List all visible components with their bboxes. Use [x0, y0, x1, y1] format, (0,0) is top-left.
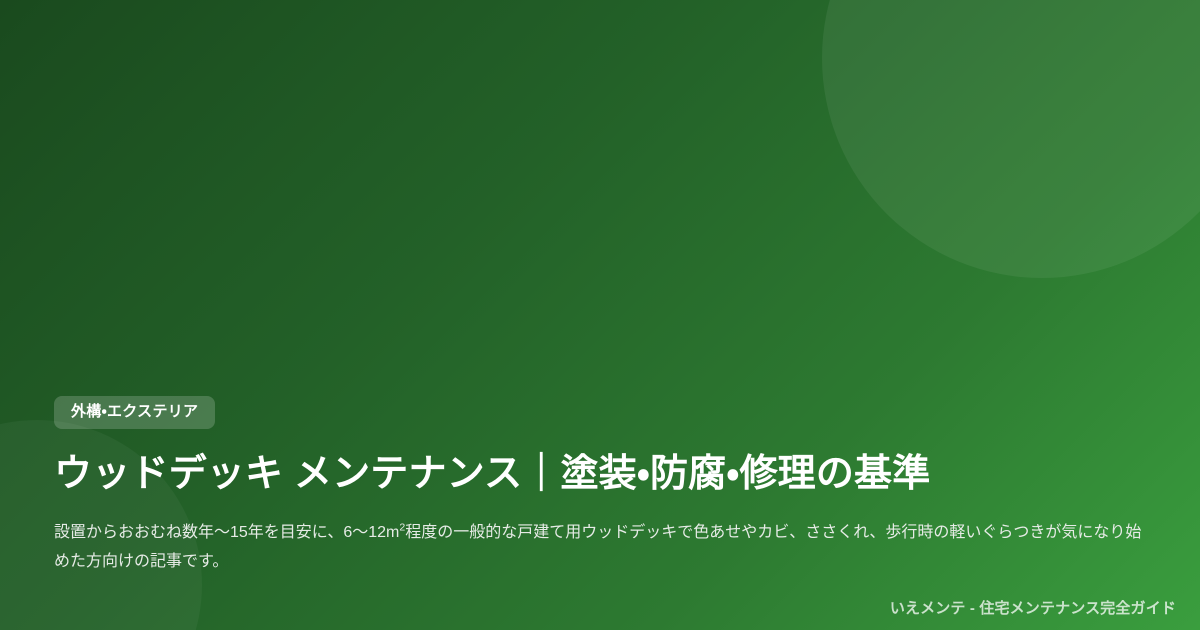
description-segment-2: 程度の一般的な戸建て用ウッドデッキで色あせやカビ、ささくれ、歩行時の軽いぐら — [405, 524, 1013, 541]
og-card: 外構・エクステリア ウッドデッキ メンテナンス｜塗装・防腐・修理の基準 設置から… — [0, 0, 1200, 630]
content-block: 外構・エクステリア ウッドデッキ メンテナンス｜塗装・防腐・修理の基準 設置から… — [54, 396, 1146, 576]
description-segment-1: 設置からおおむね数年〜15年を目安に、6〜12m — [54, 524, 399, 541]
description-text: 設置からおおむね数年〜15年を目安に、6〜12m2程度の一般的な戸建て用ウッドデ… — [54, 518, 1146, 576]
category-badge: 外構・エクステリア — [54, 396, 215, 430]
site-brand-label: いえメンテ - 住宅メンテナンス完全ガイド — [890, 599, 1176, 619]
page-title: ウッドデッキ メンテナンス｜塗装・防腐・修理の基準 — [54, 451, 1146, 497]
